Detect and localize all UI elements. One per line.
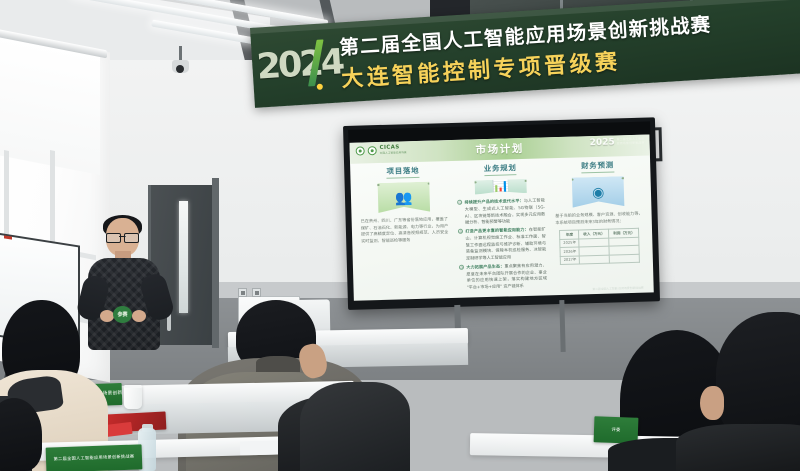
- table-cell-profit: [610, 254, 640, 263]
- photo-scene: 2024 第二届全国人工智能应用场景创新挑战赛 大连智能控制专项晋级赛 市场计划…: [0, 0, 800, 471]
- financial-forecast-table: 年度 收入（万元） 利润（万元） 2025年: [559, 228, 640, 265]
- cicas-ring-icon: [356, 147, 365, 156]
- table-cell-revenue: [580, 255, 610, 264]
- bullet-item: ① 持续提升产品的技术迭代水平：与人工智能大模型、生成式人工智能、5G物联（5G…: [457, 198, 545, 227]
- placard-text: 评委: [611, 427, 620, 434]
- slide-watermark: 第二届全国人工智能 应用场景创新挑战赛: [592, 287, 643, 292]
- year-logo-dot: [317, 84, 323, 90]
- presenter-hand-left: [100, 310, 114, 322]
- badge-number: 2025: [590, 137, 615, 148]
- badge-line-2: 应用场景创新挑战赛: [617, 142, 645, 146]
- target-icon: ◉: [572, 176, 625, 207]
- bar-chart-icon: 📊: [475, 179, 527, 195]
- target-glyph: ◉: [592, 185, 605, 199]
- bullet-lead: 打造产品更丰富的智能应用能力：: [465, 227, 529, 234]
- coffee-cup: [124, 385, 142, 409]
- audience-member-body: [676, 424, 800, 471]
- cicas-ring-icon: [368, 146, 377, 155]
- cicas-logo: CICAS 中国人工智能应用场景: [356, 145, 407, 156]
- glasses-icon: [106, 233, 139, 241]
- bullet-lead: 持续提升产品的技术迭代水平：: [464, 198, 523, 205]
- presenter: 参赛: [76, 218, 172, 348]
- people-glyph: 👥: [395, 190, 413, 204]
- bullet-number: ①: [457, 200, 462, 205]
- slide-event-badge: 2025 第二届全国人工智能 应用场景创新挑战赛: [590, 137, 645, 149]
- door-glass-panel: [179, 201, 188, 313]
- bullet-text: 大力拓展产品生态：重点聚焦有应用潜力、愿意在未来平台团队开展合作的企业、事业单位…: [466, 262, 547, 291]
- bullet-text: 持续提升产品的技术迭代水平：与人工智能大模型、生成式人工智能、5G物联（5G-A…: [464, 198, 545, 227]
- column-body: 基于当前的业务规模、客户资源、创收能力等，本系统项目预测未来3年的财务情况：: [552, 211, 646, 227]
- column-title: 财务预测: [581, 159, 614, 173]
- table-row: 2027年: [560, 254, 639, 265]
- bullet-item: ② 打造产品更丰富的智能应用能力：在智能矿山、计算机视觉施工作业、标准工作面、智…: [458, 227, 546, 263]
- projection-screen: 市场计划 CICAS 中国人工智能应用场景 2025 第二届全国人工智能 应用场…: [343, 117, 660, 310]
- wall-outlet: [238, 288, 247, 297]
- column-title: 项目落地: [386, 165, 419, 179]
- presentation-slide: 市场计划 CICAS 中国人工智能应用场景 2025 第二届全国人工智能 应用场…: [349, 134, 653, 300]
- name-placard: 第二届全国人工智能应用场景创新挑战赛: [46, 444, 143, 471]
- bullet-number: ③: [459, 265, 464, 270]
- year-logo: 2024: [265, 34, 335, 96]
- column-body: 已在贵州、四川、广东等省份落地应用，覆盖了煤矿、石油石化、新能源、电力等行业，为…: [358, 216, 452, 245]
- cup-lid: [124, 385, 142, 388]
- audience-member-coat: [300, 382, 410, 471]
- audience-member-ear: [700, 386, 724, 420]
- presenter-badge: 参赛: [113, 306, 132, 323]
- people-icon: 👥: [377, 182, 430, 213]
- slide-column-business: 业务规划 📊 ① 持续提升产品的技术迭代水平：与人工智能大模型、生成式人工智能、…: [453, 161, 550, 294]
- table-cell-year: 2027年: [560, 256, 579, 265]
- audience-member-collar: [256, 356, 300, 372]
- security-camera-icon: [172, 60, 189, 73]
- year-logo-digits: 2024: [256, 42, 344, 87]
- bullet-number: ②: [458, 229, 463, 234]
- wall-outlet: [252, 288, 261, 297]
- slide-column-project: 项目落地 👥 已在贵州、四川、广东等省份落地应用，覆盖了煤矿、石油石化、新能源、…: [356, 164, 453, 297]
- slide-column-finance: 财务预测 ◉ 基于当前的业务规模、客户资源、创收能力等，本系统项目预测未来3年的…: [551, 159, 648, 292]
- presenter-hand-right: [132, 310, 146, 322]
- door-frame: [212, 178, 219, 348]
- bar-chart-glyph: 📊: [492, 180, 510, 194]
- column-bullets: ① 持续提升产品的技术迭代水平：与人工智能大模型、生成式人工智能、5G物联（5G…: [454, 198, 550, 294]
- bullet-item: ③ 大力拓展产品生态：重点聚焦有应用潜力、愿意在未来平台团队开展合作的企业、事业…: [459, 262, 547, 291]
- cicas-sub: 中国人工智能应用场景: [380, 151, 407, 156]
- presenter-badge-text: 参赛: [117, 311, 127, 318]
- bullet-text: 打造产品更丰富的智能应用能力：在智能矿山、计算机视觉施工作业、标准工作面、智慧工…: [465, 227, 546, 262]
- column-title: 业务规划: [484, 162, 517, 176]
- bullet-lead: 大力拓展产品生态：: [466, 264, 504, 270]
- placard-text: 第二届全国人工智能应用场景创新挑战赛: [54, 454, 135, 463]
